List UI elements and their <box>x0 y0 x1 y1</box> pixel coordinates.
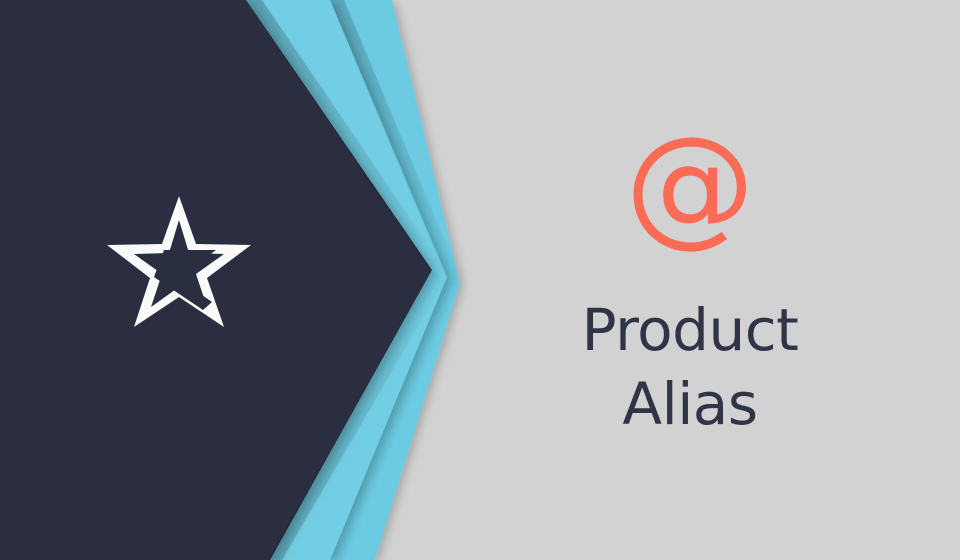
star-logo-icon <box>104 194 254 330</box>
right-content-panel: @ Product Alias <box>500 0 880 560</box>
slide-canvas: @ Product Alias <box>0 0 960 560</box>
page-title-line1: Product <box>582 293 799 367</box>
at-symbol-icon: @ <box>620 119 760 249</box>
at-symbol-glyph: @ <box>625 119 755 249</box>
page-title-line2: Alias <box>622 367 757 441</box>
